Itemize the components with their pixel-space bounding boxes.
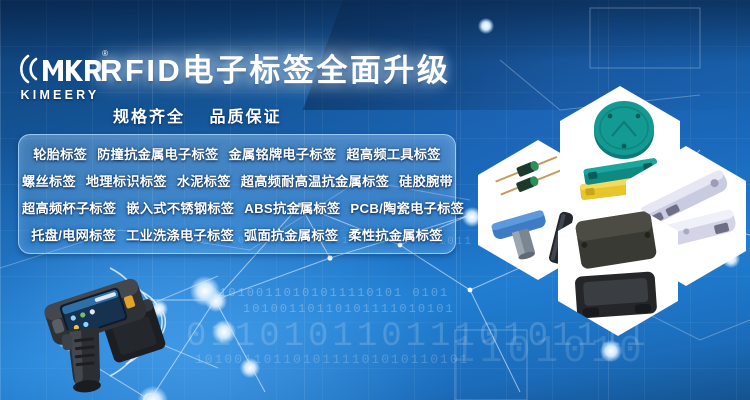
tag-item[interactable]: 螺丝标签 [19, 174, 79, 189]
tag-item[interactable]: 金属铭牌电子标签 [225, 147, 339, 162]
bottom-glow-node [240, 358, 260, 378]
page-subtitle: 规格齐全 品质保证 [113, 103, 299, 127]
signal-glow-1 [190, 276, 220, 306]
tag-item[interactable]: 超高频工具标签 [343, 147, 443, 162]
tag-item[interactable]: 弧面抗金属标签 [241, 228, 341, 243]
handheld-rfid-reader[interactable] [36, 276, 156, 388]
signal-glow-2 [212, 320, 236, 344]
tag-item[interactable]: ABS抗金属标签 [241, 201, 343, 216]
tag-row-1: 轮胎标签 防撞抗金属电子标签 金属铭牌电子标签 超高频工具标签 [19, 141, 455, 168]
tag-item[interactable]: 工业洗涤电子标签 [123, 228, 237, 243]
tag-item[interactable]: 轮胎标签 [30, 147, 90, 162]
tag-row-3: 超高频杯子标签 嵌入式不锈钢标签 ABS抗金属标签 PCB/陶瓷电子标签 [19, 195, 455, 222]
subtitle-part-1: 规格齐全 [113, 109, 203, 126]
tag-item[interactable]: 柔性抗金属标签 [345, 228, 445, 243]
page-title: RFID电子标签全面升级 [100, 48, 460, 94]
product-tag-panel: 轮胎标签 防撞抗金属电子标签 金属铭牌电子标签 超高频工具标签 螺丝标签 地理标… [18, 134, 456, 254]
headline-container: RFID电子标签全面升级 [100, 48, 460, 94]
tag-row-4: 托盘/电网标签 工业洗涤电子标签 弧面抗金属标签 柔性抗金属标签 [19, 222, 455, 249]
tag-item[interactable]: 超高频耐高温抗金属标签 [238, 174, 392, 189]
tag-item[interactable]: 地理标识标签 [83, 174, 170, 189]
subtitle-part-2: 品质保证 [209, 109, 299, 126]
tag-item[interactable]: 托盘/电网标签 [28, 228, 119, 243]
brand-logo[interactable]: ® KIMEERY [14, 52, 106, 108]
tag-item[interactable]: 水泥标签 [174, 174, 234, 189]
tag-item[interactable]: PCB/陶瓷电子标签 [347, 201, 467, 216]
tag-item[interactable]: 防撞抗金属电子标签 [94, 147, 221, 162]
rfid-promo-banner: 0101101 01010110101 01011 010101 0101001… [0, 0, 750, 400]
tag-row-2: 螺丝标签 地理标识标签 水泥标签 超高频耐高温抗金属标签 硅胶腕带 [19, 168, 455, 195]
glow-node-7 [600, 340, 622, 362]
tag-item[interactable]: 嵌入式不锈钢标签 [123, 201, 237, 216]
tag-item[interactable]: 超高频杯子标签 [19, 201, 119, 216]
tag-item[interactable]: 硅胶腕带 [396, 174, 456, 189]
glow-node-5 [478, 18, 494, 34]
brand-name: KIMEERY [14, 88, 106, 102]
